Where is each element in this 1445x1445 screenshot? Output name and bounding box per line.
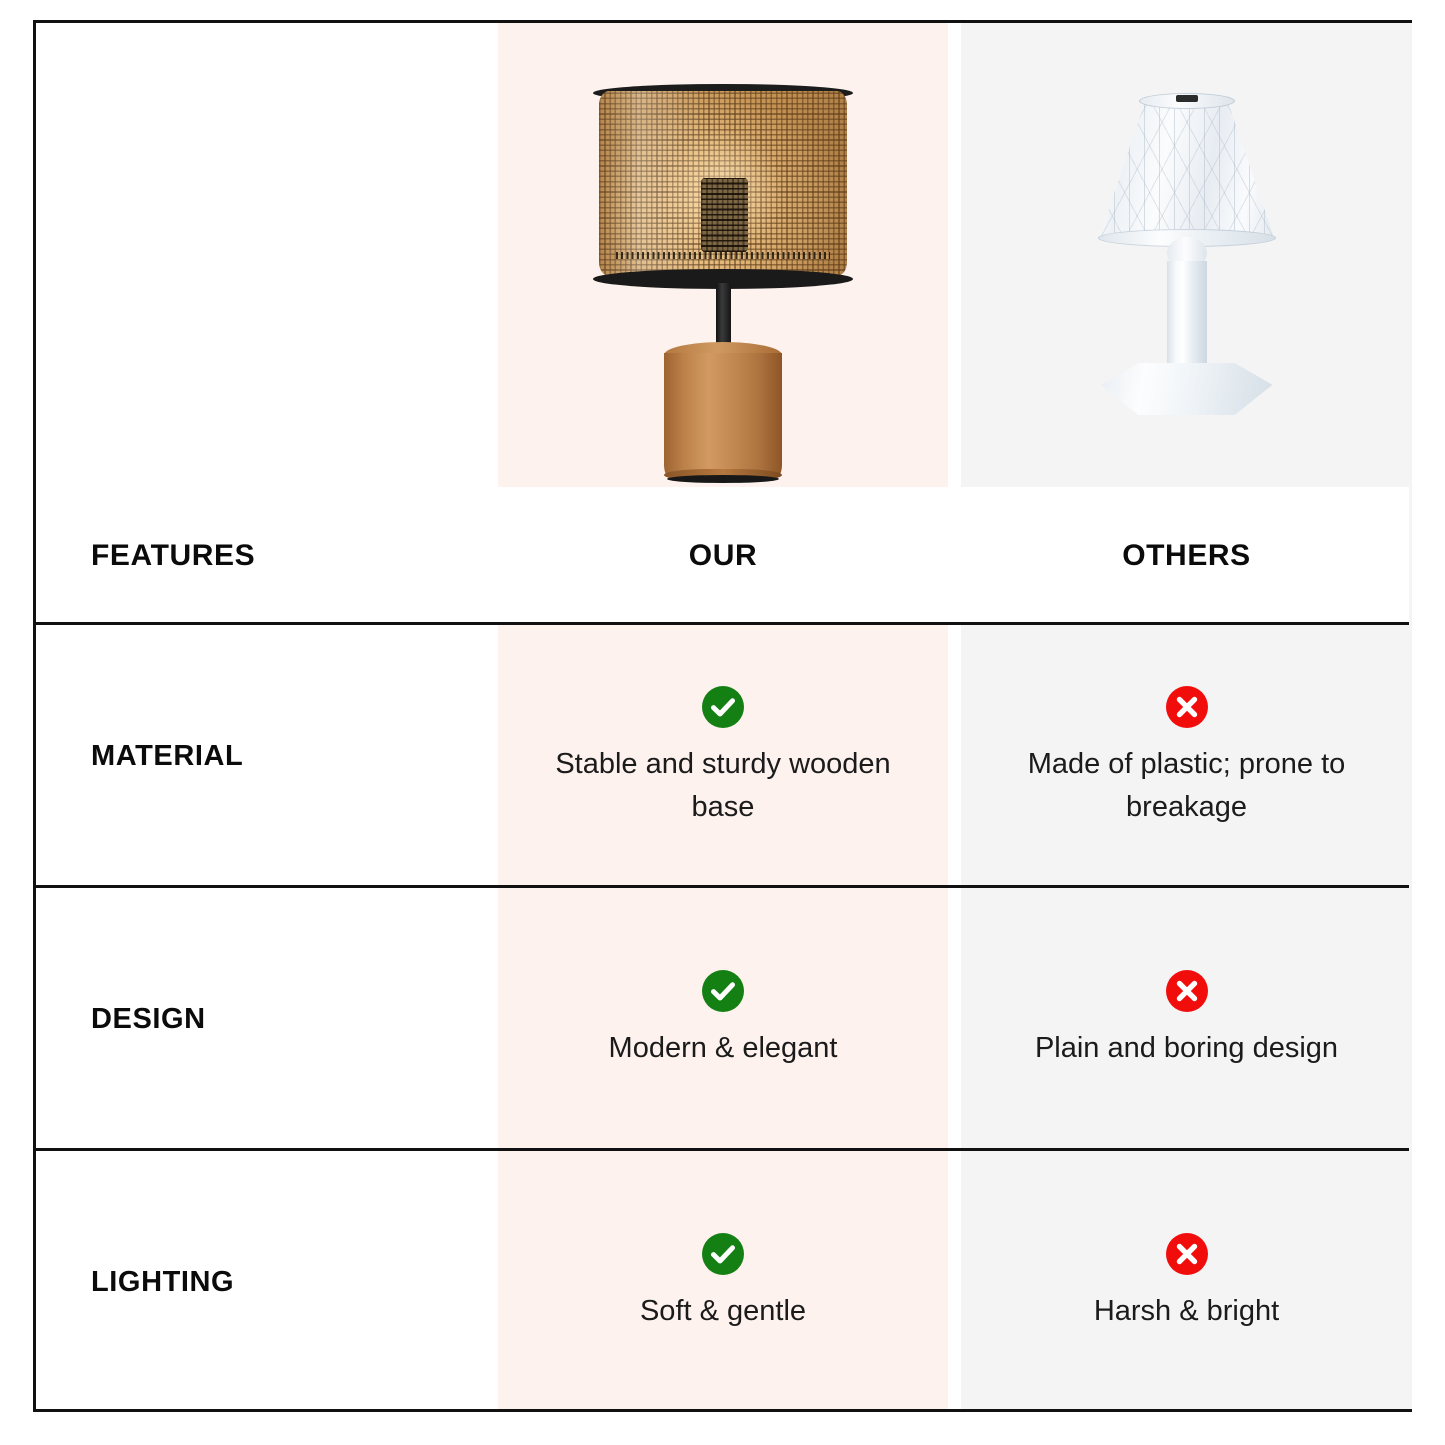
cross-circle-icon <box>1165 1232 1209 1276</box>
crystal-lamp-column <box>1167 261 1207 377</box>
crystal-lamp-switch <box>1176 95 1198 102</box>
clear-acrylic-crystal-lamp-image <box>1077 85 1297 425</box>
rattan-woven-table-lamp-image <box>593 61 853 461</box>
row-our-text: Stable and sturdy wooden base <box>524 743 922 827</box>
check-circle-icon <box>701 969 745 1013</box>
row-our-cell: Modern & elegant <box>498 888 948 1151</box>
row-others-cell: Plain and boring design <box>961 888 1412 1151</box>
header-features: FEATURES <box>91 487 498 625</box>
row-others-text: Harsh & bright <box>1094 1290 1279 1332</box>
header-others: OTHERS <box>961 487 1412 625</box>
row-others-text: Made of plastic; prone to breakage <box>987 743 1386 827</box>
row-our-cell: Soft & gentle <box>498 1151 948 1414</box>
our-product-image-cell <box>498 23 948 487</box>
row-our-cell: Stable and sturdy wooden base <box>498 625 948 888</box>
lamp-wooden-base <box>664 353 782 481</box>
row-feature-label: MATERIAL <box>91 625 498 888</box>
product-image-row <box>36 23 1409 487</box>
check-circle-icon <box>701 685 745 729</box>
cross-circle-icon <box>1165 685 1209 729</box>
table-row: DESIGN Modern & elegant Plain and boring… <box>36 888 1409 1151</box>
row-others-cell: Harsh & bright <box>961 1151 1412 1414</box>
row-feature-label: LIGHTING <box>91 1151 498 1414</box>
row-our-text: Soft & gentle <box>640 1290 806 1332</box>
lamp-bulb-silhouette <box>701 178 748 252</box>
crystal-lamp-hexagonal-base <box>1101 363 1273 415</box>
crystal-lamp-shade <box>1099 99 1275 239</box>
table-header-row: FEATURES OUR OTHERS <box>36 487 1409 625</box>
lamp-shade-dark-band <box>616 252 829 259</box>
comparison-table: FEATURES OUR OTHERS MATERIAL Stable and … <box>33 20 1412 1412</box>
row-others-text: Plain and boring design <box>1035 1027 1338 1069</box>
row-others-cell: Made of plastic; prone to breakage <box>961 625 1412 888</box>
row-feature-label: DESIGN <box>91 888 498 1151</box>
table-row: MATERIAL Stable and sturdy wooden base M… <box>36 625 1409 888</box>
row-our-text: Modern & elegant <box>609 1027 838 1069</box>
cross-circle-icon <box>1165 969 1209 1013</box>
lamp-rattan-shade <box>599 91 847 276</box>
lamp-base-foot <box>667 475 779 483</box>
table-row: LIGHTING Soft & gentle Harsh & bright <box>36 1151 1409 1414</box>
others-product-image-cell <box>961 23 1412 487</box>
check-circle-icon <box>701 1232 745 1276</box>
header-our: OUR <box>498 487 948 625</box>
